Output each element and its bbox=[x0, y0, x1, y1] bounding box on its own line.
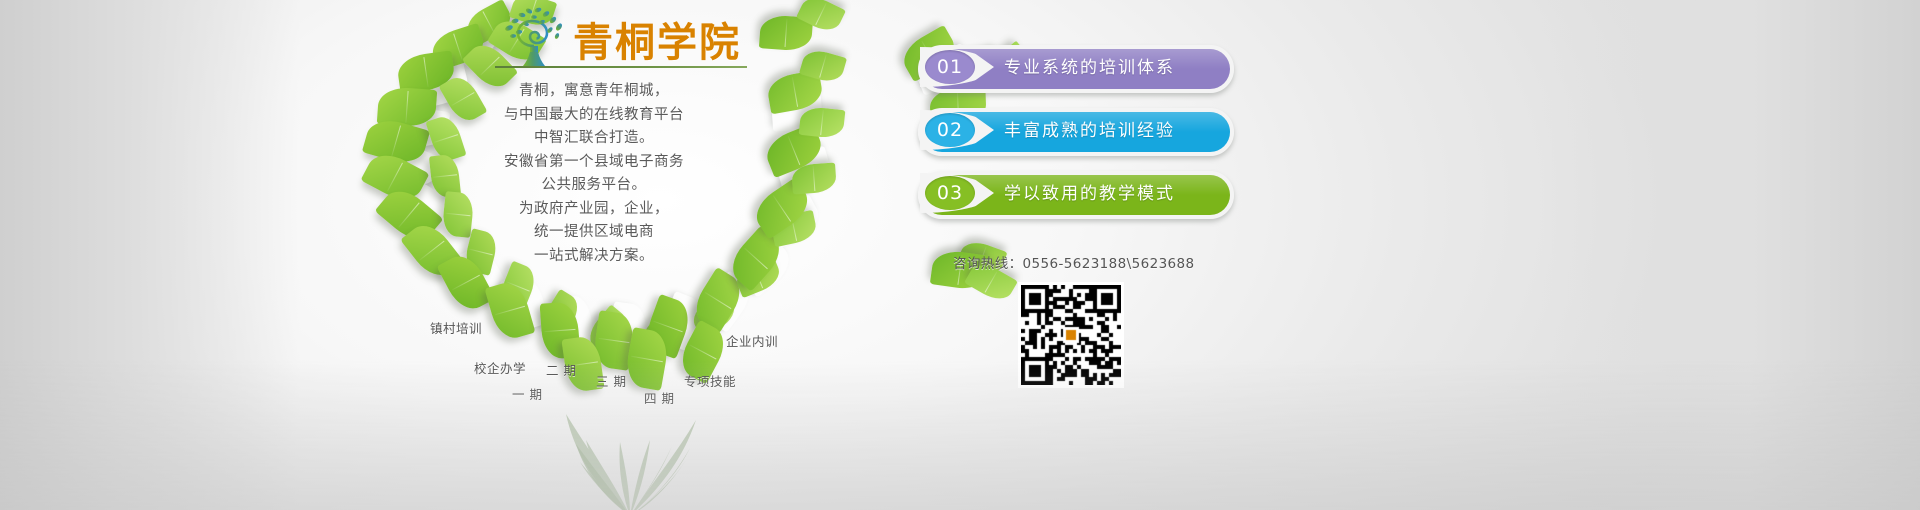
description-line: 青桐，寓意青年桐城， bbox=[466, 80, 722, 104]
brand-underline bbox=[495, 66, 747, 68]
tree-icon bbox=[495, 6, 573, 68]
feature-badge-list: 01 专业系统的培训体系 02 丰富成熟的培训经验 03 学以致用的教学模式 bbox=[918, 45, 1238, 234]
program-label: 企业内训 bbox=[726, 331, 778, 350]
banner-stage: 青桐学院 青桐，寓意青年桐城，与中国最大的在线教育平台中智汇联合打造。安徽省第一… bbox=[0, 0, 1920, 510]
badge-label: 专业系统的培训体系 bbox=[1004, 45, 1220, 85]
hotline-text: 咨询热线：0556-5623188\5623688 bbox=[953, 252, 1253, 272]
badge-number: 02 bbox=[925, 113, 975, 147]
badge-number: 01 bbox=[925, 50, 975, 84]
program-label: 镇村培训 bbox=[430, 318, 482, 337]
description-text: 青桐，寓意青年桐城，与中国最大的在线教育平台中智汇联合打造。安徽省第一个县域电子… bbox=[466, 80, 722, 268]
description-line: 中智汇联合打造。 bbox=[466, 127, 722, 151]
badge-label: 学以致用的教学模式 bbox=[1004, 171, 1220, 211]
description-line: 与中国最大的在线教育平台 bbox=[466, 104, 722, 128]
feature-badge[interactable]: 03 学以致用的教学模式 bbox=[918, 171, 1234, 219]
leaf-shape bbox=[799, 106, 846, 139]
description-line: 安徽省第一个县域电子商务 bbox=[466, 151, 722, 175]
description-line: 一站式解决方案。 bbox=[466, 245, 722, 269]
description-line: 公共服务平台。 bbox=[466, 174, 722, 198]
feature-badge[interactable]: 02 丰富成熟的培训经验 bbox=[918, 108, 1234, 156]
brand-logo: 青桐学院 bbox=[495, 4, 755, 82]
description-line: 统一提供区域电商 bbox=[466, 221, 722, 245]
feature-badge[interactable]: 01 专业系统的培训体系 bbox=[918, 45, 1234, 93]
badge-number: 03 bbox=[925, 176, 975, 210]
badge-label: 丰富成熟的培训经验 bbox=[1004, 108, 1220, 148]
bottom-vignette bbox=[0, 360, 1920, 510]
brand-name: 青桐学院 bbox=[573, 10, 741, 68]
description-line: 为政府产业园，企业， bbox=[466, 198, 722, 222]
